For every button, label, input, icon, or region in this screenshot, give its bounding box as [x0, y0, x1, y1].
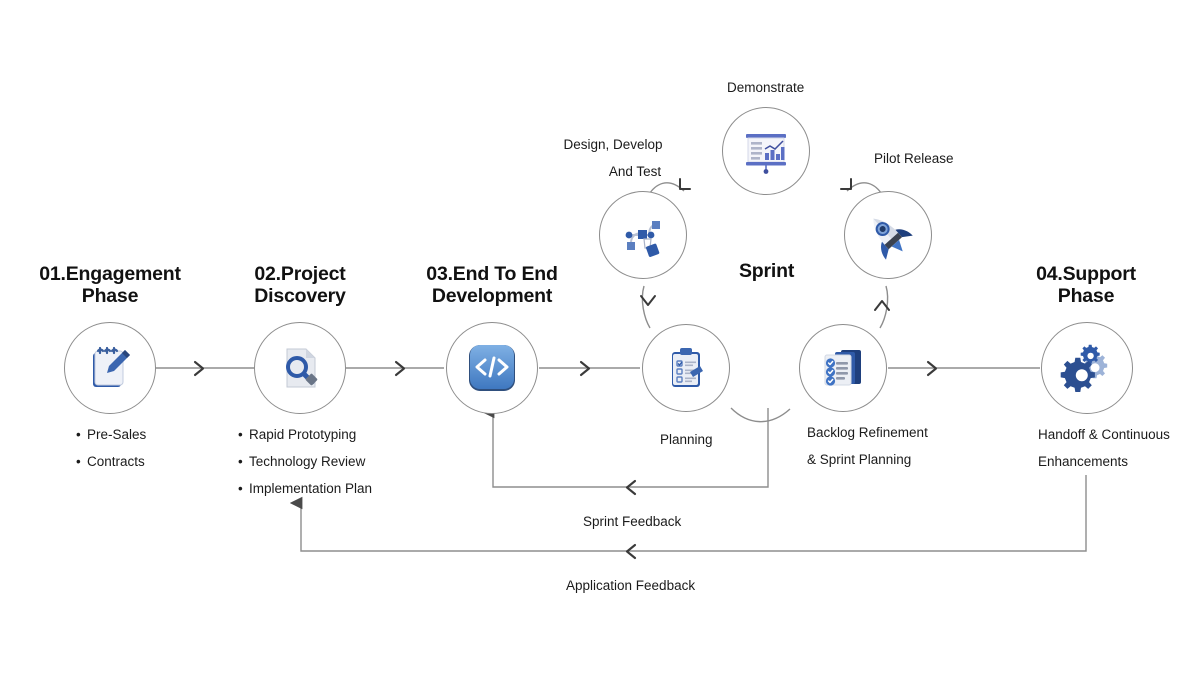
phase-title-line1: 02.Project [200, 263, 400, 285]
caption-line2: Enhancements [1038, 448, 1170, 475]
bullet-dot-icon: • [76, 448, 87, 475]
caption-line2: & Sprint Planning [807, 446, 928, 473]
sprint-node-demonstrate[interactable] [722, 107, 810, 195]
chevron-sprint-feedback-icon [627, 481, 635, 494]
document-search-icon [273, 341, 327, 395]
phase-title-support: 04.Support Phase [986, 263, 1186, 307]
checklist-documents-icon [817, 342, 869, 394]
arc-backlog-to-pilot [880, 286, 888, 328]
phase-node-development[interactable] [446, 322, 538, 414]
chevron-sprint-4-icon [928, 362, 936, 375]
application-feedback-path [301, 475, 1086, 551]
presentation-chart-icon [739, 124, 793, 178]
caption-design-develop-test: Design, Develop And Test [513, 131, 713, 185]
label-sprint-feedback: Sprint Feedback [583, 508, 681, 535]
bullets-discovery: •Rapid Prototyping •Technology Review •I… [238, 421, 372, 502]
list-item: •Pre-Sales [76, 421, 146, 448]
phase-title-development: 03.End To End Development [392, 263, 592, 307]
code-brackets-icon [463, 339, 521, 397]
list-item: •Technology Review [238, 448, 372, 475]
phase-title-line2: Discovery [200, 285, 400, 307]
caption-line1: Backlog Refinement [807, 419, 928, 446]
phase-title-line2: Development [392, 285, 592, 307]
bullet-dot-icon: • [76, 421, 87, 448]
phase-title-line1: 03.End To End [392, 263, 592, 285]
chevron-2-3-icon [396, 362, 404, 375]
rocket-icon [861, 208, 915, 262]
caption-line1: Handoff & Continuous [1038, 421, 1170, 448]
phase-node-engagement[interactable] [64, 322, 156, 414]
phase-node-support[interactable] [1041, 322, 1133, 414]
phase-title-engagement: 01.Engagement Phase [10, 263, 210, 307]
list-item: •Contracts [76, 448, 146, 475]
list-item: •Implementation Plan [238, 475, 372, 502]
sprint-node-design[interactable] [599, 191, 687, 279]
phase-title-line2: Phase [10, 285, 210, 307]
phase-title-line2: Phase [986, 285, 1186, 307]
pen-tool-nodes-icon [617, 209, 669, 261]
caption-backlog: Backlog Refinement & Sprint Planning [807, 419, 928, 473]
arrowhead-planning-icon [641, 296, 655, 305]
caption-demonstrate: Demonstrate [727, 74, 804, 101]
sprint-feedback-path [493, 408, 768, 487]
caption-support-phase: Handoff & Continuous Enhancements [1038, 421, 1170, 475]
arc-design-to-planning [642, 286, 650, 328]
bullet-dot-icon: • [238, 475, 249, 502]
chevron-application-feedback-icon [627, 545, 635, 558]
label-application-feedback: Application Feedback [566, 572, 695, 599]
phase-title-line1: 04.Support [986, 263, 1186, 285]
diagram-canvas: 01.Engagement Phase 02.Project Discovery… [0, 0, 1200, 676]
phase-title-discovery: 02.Project Discovery [200, 263, 400, 307]
bullet-dot-icon: • [238, 421, 249, 448]
arc-planning-to-backlog [731, 408, 790, 422]
bullet-dot-icon: • [238, 448, 249, 475]
arrowhead-backlog-up-icon [875, 301, 889, 310]
caption-line1: Design, Develop [513, 131, 713, 158]
notepad-pen-icon [83, 341, 137, 395]
caption-pilot-release: Pilot Release [874, 145, 954, 172]
gears-icon [1059, 340, 1115, 396]
sprint-node-backlog[interactable] [799, 324, 887, 412]
clipboard-checklist-icon [660, 342, 712, 394]
chevron-1-2-icon [195, 362, 203, 375]
phase-title-line1: 01.Engagement [10, 263, 210, 285]
phase-node-discovery[interactable] [254, 322, 346, 414]
arrowhead-pilot-icon [841, 179, 851, 189]
list-item: •Rapid Prototyping [238, 421, 372, 448]
caption-line2: And Test [557, 158, 713, 185]
sprint-node-pilot-release[interactable] [844, 191, 932, 279]
bullets-engagement: •Pre-Sales •Contracts [76, 421, 146, 475]
sprint-node-planning[interactable] [642, 324, 730, 412]
chevron-3-sprint-icon [581, 362, 589, 375]
sprint-center-label: Sprint [739, 260, 794, 283]
caption-planning: Planning [660, 426, 713, 453]
